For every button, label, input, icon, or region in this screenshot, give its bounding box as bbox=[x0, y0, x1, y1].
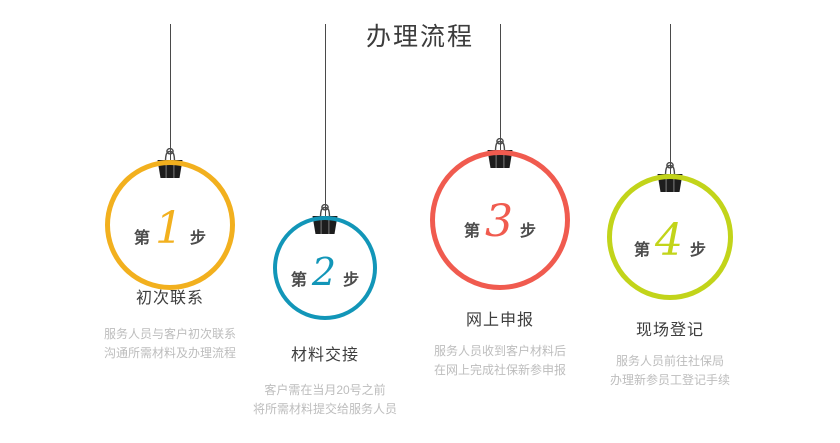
step-description-2: 客户需在当月20号之前 将所需材料提交给服务人员 bbox=[225, 381, 425, 419]
hanging-string-icon bbox=[325, 24, 326, 216]
step-prefix-label: 第 bbox=[134, 224, 150, 248]
step-prefix-label: 第 bbox=[634, 236, 650, 260]
step-label-2: 材料交接 bbox=[225, 345, 425, 367]
step-desc-line-1: 客户需在当月20号之前 bbox=[225, 381, 425, 400]
step-digit-label: 3 bbox=[480, 200, 520, 244]
step-digit-label: 4 bbox=[650, 219, 690, 263]
step-label-4: 现场登记 bbox=[570, 320, 770, 342]
step-prefix-label: 第 bbox=[291, 266, 307, 290]
step-number-4: 第4步 bbox=[634, 219, 706, 263]
step-suffix-label: 步 bbox=[690, 236, 706, 260]
step-digit-label: 1 bbox=[150, 207, 190, 251]
step-suffix-label: 步 bbox=[520, 217, 536, 241]
step-desc-line-1: 服务人员前往社保局 bbox=[570, 352, 770, 371]
hanging-string-icon bbox=[670, 24, 671, 174]
step-suffix-label: 步 bbox=[190, 224, 206, 248]
hanging-string-icon bbox=[500, 24, 501, 150]
step-description-4: 服务人员前往社保局 办理新参员工登记手续 bbox=[570, 352, 770, 390]
slide-canvas: 办理流程 第1步 初次联系 服务人员与客户初次联系 沟通所需材料及办理流程 bbox=[0, 0, 840, 443]
step-number-1: 第1步 bbox=[134, 207, 206, 251]
step-suffix-label: 步 bbox=[343, 266, 359, 290]
step-number-2: 第2步 bbox=[291, 253, 359, 291]
step-desc-line-2: 将所需材料提交给服务人员 bbox=[225, 400, 425, 419]
step-prefix-label: 第 bbox=[464, 217, 480, 241]
step-number-3: 第3步 bbox=[464, 200, 536, 244]
step-item-2[interactable]: 第2步 材料交接 客户需在当月20号之前 将所需材料提交给服务人员 bbox=[225, 0, 425, 443]
step-desc-line-2: 办理新参员工登记手续 bbox=[570, 371, 770, 390]
step-item-4[interactable]: 第4步 现场登记 服务人员前往社保局 办理新参员工登记手续 bbox=[570, 0, 770, 443]
step-digit-label: 2 bbox=[307, 253, 343, 291]
hanging-string-icon bbox=[170, 24, 171, 160]
